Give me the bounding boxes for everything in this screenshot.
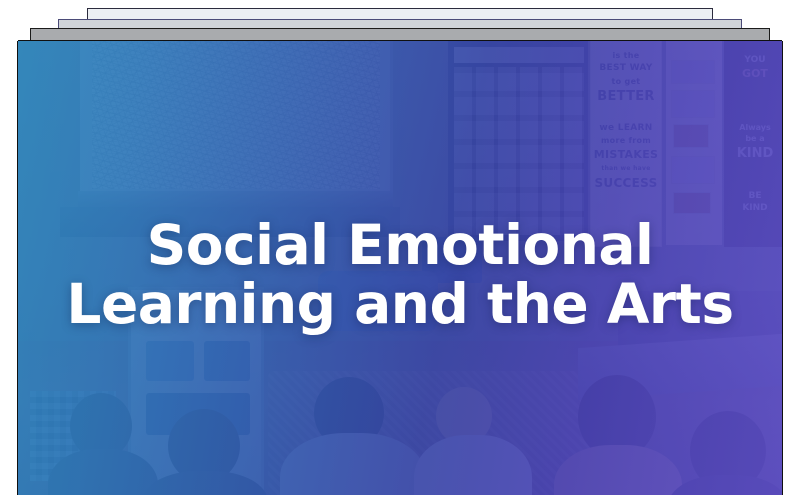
title-line-2: Learning and the Arts (40, 275, 760, 334)
title-line-1: Social Emotional (40, 216, 760, 275)
presentation-slide[interactable]: is the BEST WAY to get BETTER we LEARN m… (18, 41, 782, 495)
slide-canvas: is the BEST WAY to get BETTER we LEARN m… (0, 0, 800, 495)
slide-title: Social Emotional Learning and the Arts (18, 216, 782, 335)
